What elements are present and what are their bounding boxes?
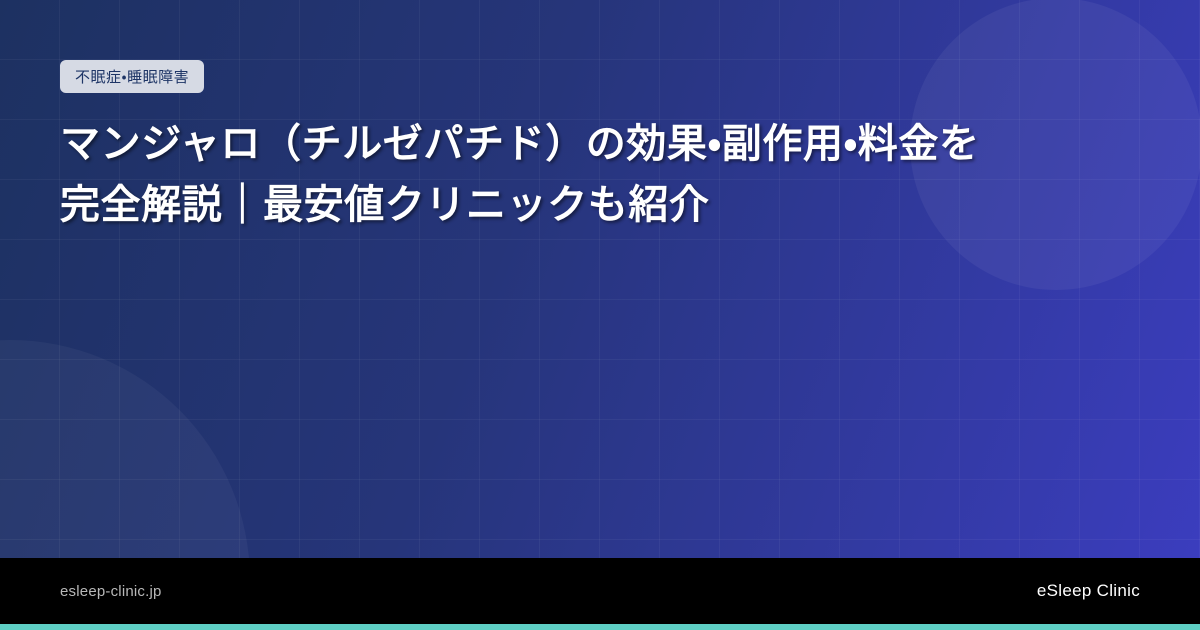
page-title-line-1: マンジャロ（チルゼパチド）の効果・副作用・料金を	[60, 114, 1150, 175]
decorative-circle-bottom-left	[0, 340, 250, 558]
hero-banner: 不眠症・睡眠障害 マンジャロ（チルゼパチド）の効果・副作用・料金を 完全解説｜最…	[0, 0, 1200, 558]
accent-bar	[0, 624, 1200, 630]
page-title: マンジャロ（チルゼパチド）の効果・副作用・料金を 完全解説｜最安値クリニックも紹…	[60, 114, 1150, 236]
og-image-card: 不眠症・睡眠障害 マンジャロ（チルゼパチド）の効果・副作用・料金を 完全解説｜最…	[0, 0, 1200, 630]
page-title-line-2: 完全解説｜最安値クリニックも紹介	[60, 175, 1150, 236]
site-url: esleep-clinic.jp	[60, 583, 162, 600]
category-badge: 不眠症・睡眠障害	[60, 60, 204, 93]
site-brand-name: eSleep Clinic	[1037, 581, 1140, 601]
footer-bar: esleep-clinic.jp eSleep Clinic	[0, 558, 1200, 624]
category-badge-label: 不眠症・睡眠障害	[75, 66, 189, 87]
